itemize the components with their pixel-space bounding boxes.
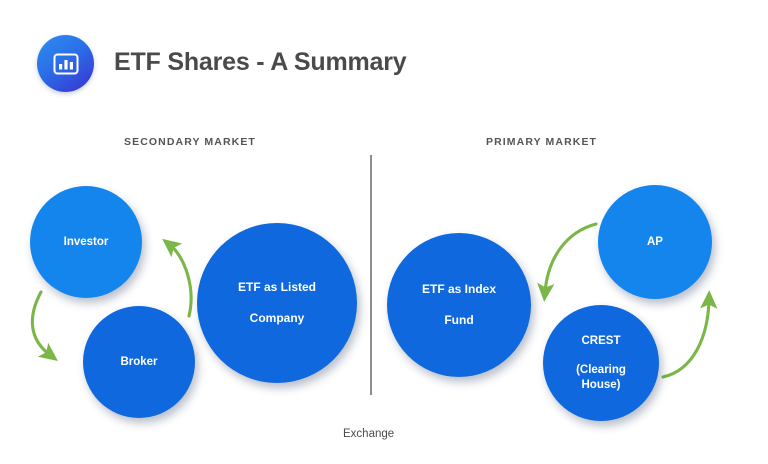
node-ap[interactable]: AP: [598, 185, 712, 299]
market-divider: [370, 155, 372, 395]
exchange-label: Exchange: [343, 428, 394, 440]
page-title: ETF Shares - A Summary: [114, 48, 406, 77]
node-etf-as-index-fund-label: ETF as Index Fund: [402, 282, 516, 328]
node-etf-index-line2: Fund: [412, 313, 506, 328]
diagram-canvas: ETF Shares - A Summary SECONDARY MARKET …: [0, 0, 768, 464]
node-etf-as-listed-company-label: ETF as Listed Company: [218, 280, 336, 326]
arrow-investor-to-broker: [32, 292, 50, 355]
secondary-market-label: SECONDARY MARKET: [124, 136, 256, 148]
node-etf-as-listed-company[interactable]: ETF as Listed Company: [197, 223, 357, 383]
node-crest-line2: (Clearing House): [553, 363, 649, 392]
arrow-crest-to-ap: [663, 300, 709, 377]
node-crest[interactable]: CREST (Clearing House): [543, 305, 659, 421]
arrow-ap-to-etf-index: [545, 224, 596, 292]
node-etf-as-index-fund[interactable]: ETF as Index Fund: [387, 233, 531, 377]
node-etf-index-line1: ETF as Index: [412, 282, 506, 297]
node-ap-label: AP: [637, 235, 673, 250]
node-crest-line1: CREST: [553, 334, 649, 349]
arrow-broker-to-investor: [170, 245, 191, 316]
node-broker[interactable]: Broker: [83, 306, 195, 418]
node-crest-label: CREST (Clearing House): [543, 334, 659, 393]
node-investor[interactable]: Investor: [30, 186, 142, 298]
primary-market-label: PRIMARY MARKET: [486, 136, 597, 148]
node-broker-label: Broker: [110, 355, 167, 370]
node-etf-listed-line2: Company: [228, 311, 326, 326]
page-header: ETF Shares - A Summary: [0, 0, 768, 112]
node-etf-listed-line1: ETF as Listed: [228, 280, 326, 295]
node-investor-label: Investor: [54, 235, 119, 250]
bar-chart-icon: [37, 35, 94, 92]
